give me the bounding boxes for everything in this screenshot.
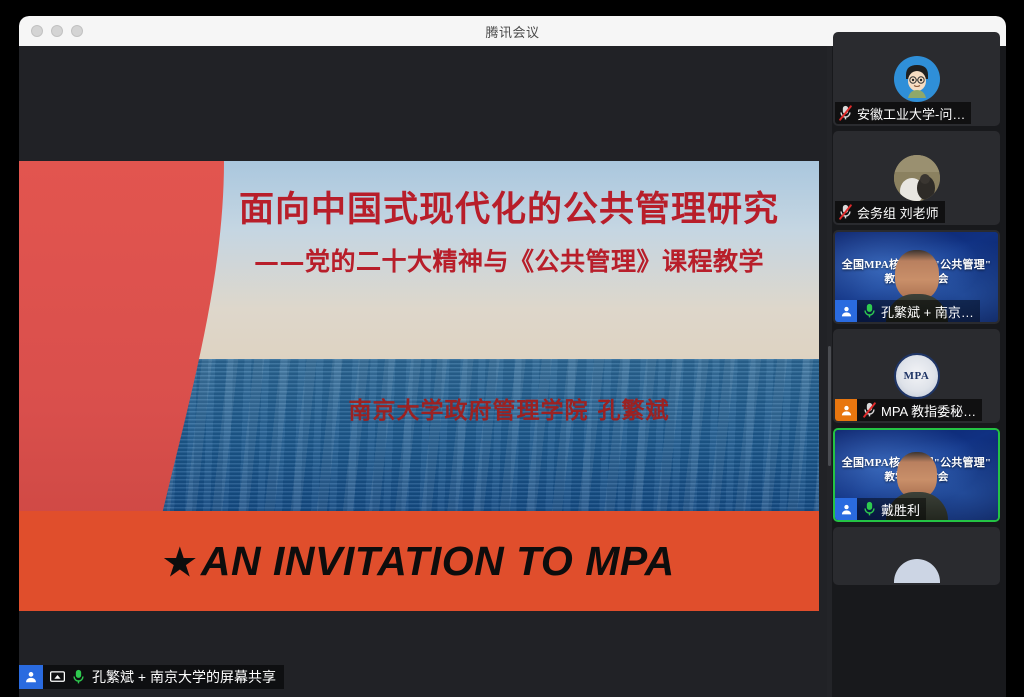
cartoon-avatar-icon [894, 56, 940, 102]
participant-name: 戴胜利 [881, 500, 920, 519]
participant-name: 孔繁斌 + 南京… [881, 302, 974, 321]
participant-tile-footer: 戴胜利 [835, 498, 926, 520]
person-icon [835, 498, 857, 520]
screen-share-icon [50, 671, 65, 684]
participant-tile[interactable]: MPA [833, 329, 1000, 423]
mpa-logo-icon: MPA [894, 353, 940, 399]
slide-subtitle: ——党的二十大精神与《公共管理》课程教学 [209, 242, 809, 278]
star-icon: ★ [163, 542, 197, 583]
slide-presenter-line: 南京大学政府管理学院 孔繁斌 [209, 391, 809, 425]
mic-on-icon [72, 669, 85, 685]
participant-rail[interactable]: 安徽工业大学-问… [827, 46, 1006, 697]
screen-share-status-label: 孔繁斌 + 南京大学的屏幕共享 [92, 667, 276, 687]
person-icon [835, 300, 857, 322]
mic-on-icon [863, 501, 876, 517]
slide-banner-label: AN INVITATION TO MPA [201, 538, 675, 584]
participant-name: 会务组 刘老师 [857, 203, 939, 222]
photo-avatar-icon [894, 155, 940, 201]
participant-tile-footer: MPA 教指委秘… [835, 399, 982, 421]
avatar [894, 559, 940, 585]
shared-screen-stage[interactable]: 面向中国式现代化的公共管理研究 ——党的二十大精神与《公共管理》课程教学 南京大… [19, 46, 827, 697]
presentation-slide: 面向中国式现代化的公共管理研究 ——党的二十大精神与《公共管理》课程教学 南京大… [19, 161, 819, 611]
participant-tile-footer: 安徽工业大学-问… [835, 102, 971, 124]
participant-tile[interactable]: 会务组 刘老师 [833, 131, 1000, 225]
participant-name: 安徽工业大学-问… [857, 104, 965, 123]
rail-scrollbar-track[interactable] [827, 46, 832, 697]
mic-on-icon [863, 303, 876, 319]
meeting-window: 腾讯会议 [19, 16, 1006, 697]
slide-heading-group: 面向中国式现代化的公共管理研究 ——党的二十大精神与《公共管理》课程教学 [209, 189, 809, 278]
participant-name: MPA 教指委秘… [881, 401, 976, 420]
person-icon [19, 665, 43, 689]
mic-muted-icon [839, 105, 852, 121]
participant-tile-partial[interactable] [833, 527, 1000, 585]
participant-tile-active-speaker[interactable]: 全国MPA核心课程"公共管理" 教学与研讨会 [833, 428, 1000, 522]
mic-muted-icon [863, 402, 876, 418]
mpa-logo-text: MPA [904, 370, 930, 382]
meeting-content: 面向中国式现代化的公共管理研究 ——党的二十大精神与《公共管理》课程教学 南京大… [19, 46, 1006, 697]
participant-tile-footer: 会务组 刘老师 [835, 201, 945, 223]
participant-tiles: 安徽工业大学-问… [833, 32, 1000, 590]
slide-title: 面向中国式现代化的公共管理研究 [209, 189, 809, 232]
screen-share-status-bar: 孔繁斌 + 南京大学的屏幕共享 [19, 665, 284, 689]
mic-muted-icon [839, 204, 852, 220]
participant-tile[interactable]: 全国MPA核心课程"公共管理" 教学与研讨会 [833, 230, 1000, 324]
participant-tile[interactable]: 安徽工业大学-问… [833, 32, 1000, 126]
slide-banner-text: ★AN INVITATION TO MPA [163, 538, 675, 585]
slide-bottom-banner: ★AN INVITATION TO MPA [19, 511, 819, 611]
participant-tile-footer: 孔繁斌 + 南京… [835, 300, 980, 322]
host-icon [835, 399, 857, 421]
rail-scrollbar-thumb[interactable] [828, 346, 831, 466]
